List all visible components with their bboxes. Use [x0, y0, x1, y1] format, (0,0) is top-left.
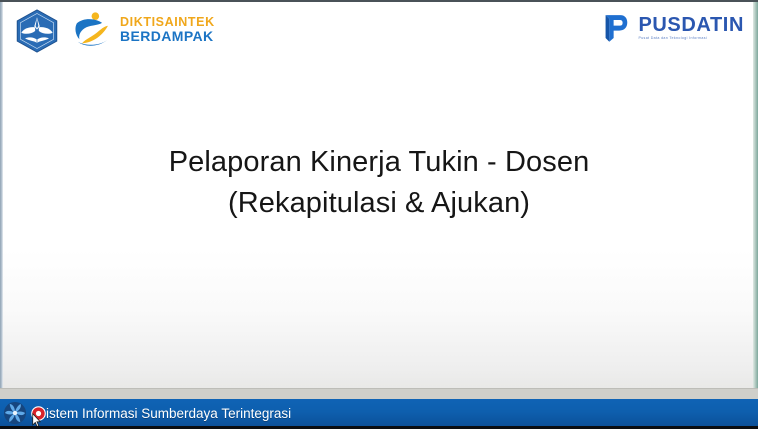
slide-title-line1: Pelaporan Kinerja Tukin - Dosen: [169, 146, 590, 178]
diktisaintek-line2: BERDAMPAK: [120, 29, 215, 43]
slide-header: DIKTISAINTEK BERDAMPAK PUSDATIN Pusat Da…: [0, 2, 758, 57]
pusdatin-p-mark-icon: [600, 11, 631, 44]
taskbar[interactable]: Sistem Informasi Sumberdaya Terintegrasi: [0, 399, 758, 427]
kemdikbud-tut-wuri-handayani-logo: [14, 8, 60, 54]
spiral-start-icon: [3, 401, 27, 425]
taskbar-window-title[interactable]: Sistem Informasi Sumberdaya Terintegrasi: [37, 406, 291, 421]
slide-title: Pelaporan Kinerja Tukin - Dosen (Rekapit…: [0, 142, 758, 224]
pusdatin-wordmark: PUSDATIN: [638, 15, 744, 35]
presentation-window: DIKTISAINTEK BERDAMPAK PUSDATIN Pusat Da…: [0, 0, 758, 429]
taskbar-upper-strip: [0, 388, 758, 399]
pusdatin-subtitle: Pusat Data dan Teknologi Informasi: [638, 37, 744, 41]
slide-title-line2: (Rekapitulasi & Ajukan): [0, 183, 758, 224]
diktisaintek-logo: DIKTISAINTEK BERDAMPAK: [70, 9, 215, 51]
diktisaintek-figure-icon: [70, 9, 114, 51]
start-button[interactable]: [2, 400, 28, 426]
pusdatin-logo: PUSDATIN Pusat Data dan Teknologi Inform…: [600, 11, 744, 44]
tut-wuri-handayani-icon: [14, 8, 60, 54]
